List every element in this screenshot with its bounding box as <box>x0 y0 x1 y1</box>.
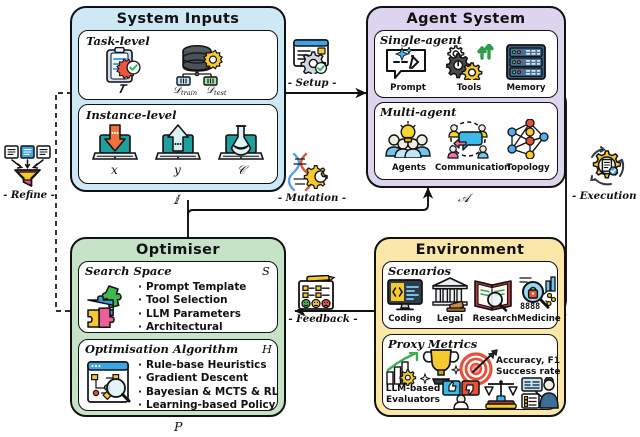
medicine-icon: 8888 <box>518 275 558 312</box>
optimisation-algorithm-label: Optimisation Algorithm <box>85 342 238 356</box>
communication-icon <box>442 119 494 159</box>
search-space-bullets: ·Prompt Template ·Tool Selection ·LLM Pa… <box>138 281 246 335</box>
legal-icon <box>431 277 469 312</box>
prompt-icon <box>384 47 430 80</box>
refine-edge-label: - Refine - <box>0 189 58 201</box>
search-space-label: Search Space <box>85 264 172 278</box>
laptop-input-icon <box>92 124 138 164</box>
diagram-canvas: System Inputs Task-level 𝑻 𝒟train 𝒟test <box>0 0 640 437</box>
accuracy-metric-text: Accuracy, F1 Success rate <box>496 356 558 378</box>
setup-edge-label: - Setup - <box>282 77 342 89</box>
optimisation-algorithm-symbol: H <box>262 342 272 356</box>
task-level-label: Task-level <box>86 34 150 48</box>
task-symbol: 𝑻 <box>118 82 125 97</box>
growth-chart-icon <box>385 352 421 386</box>
funnel-documents-icon <box>4 145 52 187</box>
instance-level-label: Instance-level <box>86 108 176 122</box>
instance-symbol: ⅈ <box>174 192 179 207</box>
human-evaluator-icon <box>521 377 559 409</box>
tools-caption: Tools <box>443 83 495 93</box>
execution-gear-doc-icon <box>584 144 630 188</box>
coding-icon <box>386 278 424 312</box>
x-symbol: x <box>111 163 118 177</box>
survey-rating-icon <box>296 275 338 313</box>
search-analysis-icon <box>86 360 132 404</box>
laptop-output-icon <box>155 124 201 164</box>
agents-icon <box>384 120 432 158</box>
svg-text:8888: 8888 <box>520 301 540 311</box>
llm-evaluators-text: LLM-based Evaluators <box>385 384 441 406</box>
dna-gear-icon <box>286 152 332 192</box>
scenarios-label: Scenarios <box>388 264 451 278</box>
puzzle-icon <box>85 282 131 328</box>
task-icon <box>102 47 146 85</box>
memory-icon <box>504 44 548 80</box>
mutation-edge-label: - Mutation - <box>277 192 347 204</box>
topology-caption: Topology <box>501 163 555 173</box>
tools-icon <box>446 44 494 80</box>
communication-caption: Communication <box>435 163 501 173</box>
execution-edge-label: - Execution - <box>572 190 640 202</box>
feedback-edge-label: - Feedback - <box>288 313 358 325</box>
research-icon <box>473 277 513 312</box>
setup-gear-window-icon <box>292 38 332 74</box>
dtest-symbol: 𝒟test <box>206 85 227 97</box>
optimisation-algorithm-bullets: ·Rule-base Heuristics ·Gradient Descent … <box>138 359 278 413</box>
search-space-symbol: S <box>262 264 270 278</box>
agent-symbol: 𝒜 <box>458 190 470 206</box>
system-inputs-title: System Inputs <box>70 11 286 27</box>
optimiser-symbol: P <box>174 419 182 434</box>
agents-caption: Agents <box>382 163 436 173</box>
research-caption: Research <box>470 314 520 324</box>
memory-caption: Memory <box>500 83 552 93</box>
topology-icon <box>506 119 550 159</box>
database-icon <box>175 44 237 86</box>
agent-system-title: Agent System <box>366 11 566 27</box>
environment-title: Environment <box>374 242 566 258</box>
dtrain-symbol: 𝒟train <box>173 85 197 97</box>
c-symbol: 𝒞 <box>237 163 246 178</box>
scales-icon <box>484 379 518 409</box>
medicine-caption: Medicine <box>515 314 563 324</box>
laptop-flask-icon <box>218 124 264 164</box>
optimiser-title: Optimiser <box>70 242 286 258</box>
coding-caption: Coding <box>382 314 428 324</box>
multi-agent-label: Multi-agent <box>380 105 456 119</box>
prompt-caption: Prompt <box>380 83 436 93</box>
thumbs-rating-icon <box>442 379 480 409</box>
legal-caption: Legal <box>428 314 472 324</box>
y-symbol: y <box>174 163 181 177</box>
